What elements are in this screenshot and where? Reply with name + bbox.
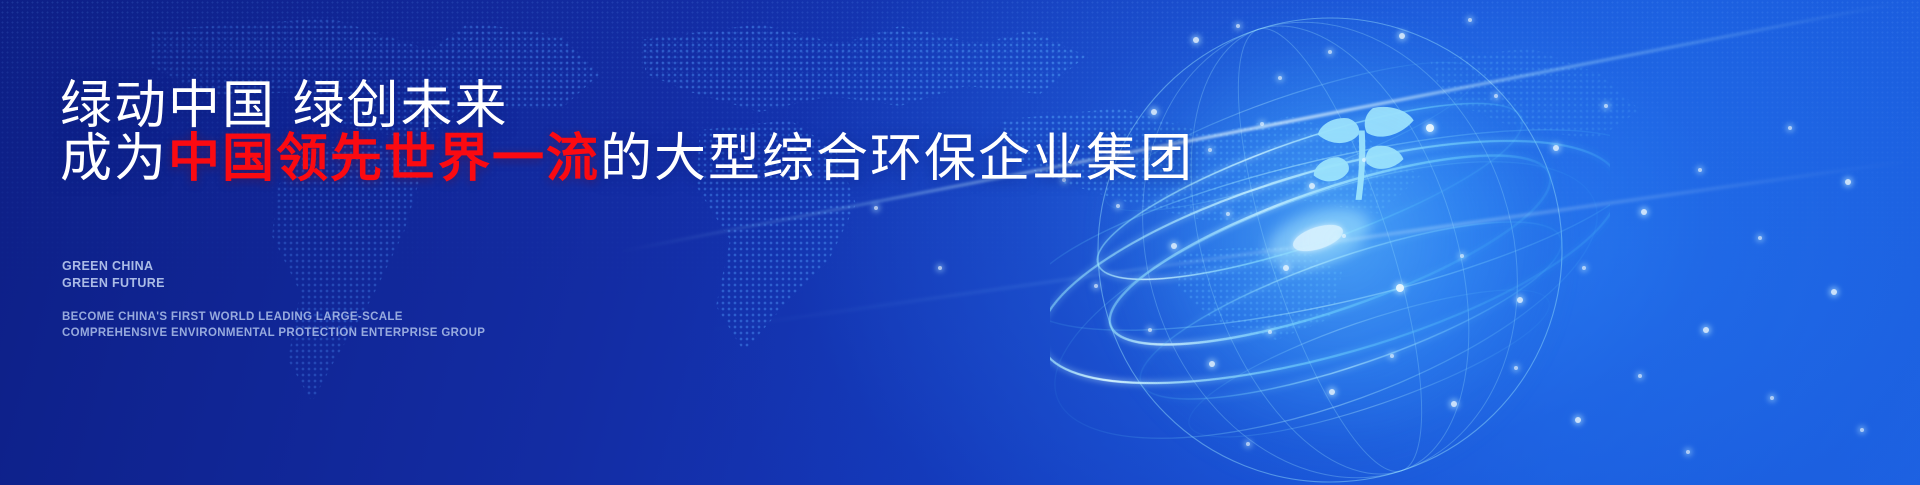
english-tagline: BECOME CHINA'S FIRST WORLD LEADING LARGE… xyxy=(62,310,485,342)
spark-particle xyxy=(1268,330,1272,334)
spark-particle xyxy=(1193,37,1199,43)
spark-particle xyxy=(1246,442,1250,446)
sprout-leaf-icon xyxy=(1314,107,1414,200)
spark-particle xyxy=(1553,145,1559,151)
headline-line-2-highlight: 中国领先世界一流 xyxy=(168,130,600,188)
spark-particle xyxy=(1399,33,1405,39)
spark-particle xyxy=(1582,266,1586,270)
copy-block: 绿动中国 绿创未来 成为中国领先世界一流的大型综合环保企业集团 GREEN CH… xyxy=(60,0,1060,485)
spark-particle xyxy=(1208,148,1212,152)
spark-particle xyxy=(1770,396,1774,400)
spark-particle xyxy=(1641,209,1647,215)
spark-particle xyxy=(1328,50,1332,54)
headline-line-2-suffix: 的大型综合环保企业集团 xyxy=(600,130,1194,188)
spark-particle xyxy=(1209,361,1215,367)
spark-particle xyxy=(1845,179,1851,185)
spark-particle xyxy=(1686,450,1690,454)
spark-particle xyxy=(1451,401,1457,407)
spark-particle xyxy=(1494,94,1498,98)
english-tagline-line-2: COMPREHENSIVE ENVIRONMENTAL PROTECTION E… xyxy=(62,326,485,342)
spark-particle xyxy=(1329,389,1335,395)
spark-particle xyxy=(1390,354,1394,358)
spark-particle xyxy=(1094,284,1098,288)
spark-particle xyxy=(1236,24,1240,28)
spark-particle xyxy=(1460,254,1464,258)
spark-particle xyxy=(1171,243,1177,249)
headline-line-2: 成为中国领先世界一流的大型综合环保企业集团 xyxy=(60,131,1194,187)
globe-graphic xyxy=(1050,0,1610,485)
globe-glow xyxy=(1090,10,1570,485)
spark-particle xyxy=(1226,212,1230,216)
spark-particle xyxy=(1517,297,1523,303)
english-slogan: GREEN CHINA GREEN FUTURE xyxy=(62,258,165,291)
spark-particle xyxy=(1283,265,1289,271)
spark-particle xyxy=(1758,236,1762,240)
promotional-banner: 绿动中国 绿创未来 成为中国领先世界一流的大型综合环保企业集团 GREEN CH… xyxy=(0,0,1920,485)
english-tagline-line-1: BECOME CHINA'S FIRST WORLD LEADING LARGE… xyxy=(62,310,485,326)
headline-line-2-prefix: 成为 xyxy=(60,130,168,188)
spark-particle xyxy=(1698,168,1702,172)
spark-particle xyxy=(1309,183,1315,189)
spark-particle xyxy=(1426,124,1434,132)
spark-particle xyxy=(1831,289,1837,295)
spark-particle xyxy=(1514,366,1518,370)
spark-particle xyxy=(1703,327,1709,333)
spark-particle xyxy=(1604,104,1608,108)
spark-particle xyxy=(1788,126,1792,130)
spark-particle xyxy=(1575,417,1581,423)
spark-particle xyxy=(1151,109,1157,115)
spark-particle xyxy=(1148,328,1152,332)
spark-particle xyxy=(1116,204,1120,208)
globe-wireframe-svg xyxy=(1050,0,1610,485)
english-slogan-line-2: GREEN FUTURE xyxy=(62,275,165,292)
spark-particle xyxy=(1342,234,1346,238)
spark-particle xyxy=(1260,122,1264,126)
headline-line-1: 绿动中国 绿创未来 xyxy=(60,78,508,134)
english-slogan-line-1: GREEN CHINA xyxy=(62,258,165,275)
spark-particle xyxy=(1860,428,1864,432)
spark-particle xyxy=(1362,158,1366,162)
spark-particle xyxy=(1468,18,1472,22)
spark-particle xyxy=(1638,374,1642,378)
spark-particle xyxy=(1278,76,1282,80)
spark-particle xyxy=(1396,284,1404,292)
